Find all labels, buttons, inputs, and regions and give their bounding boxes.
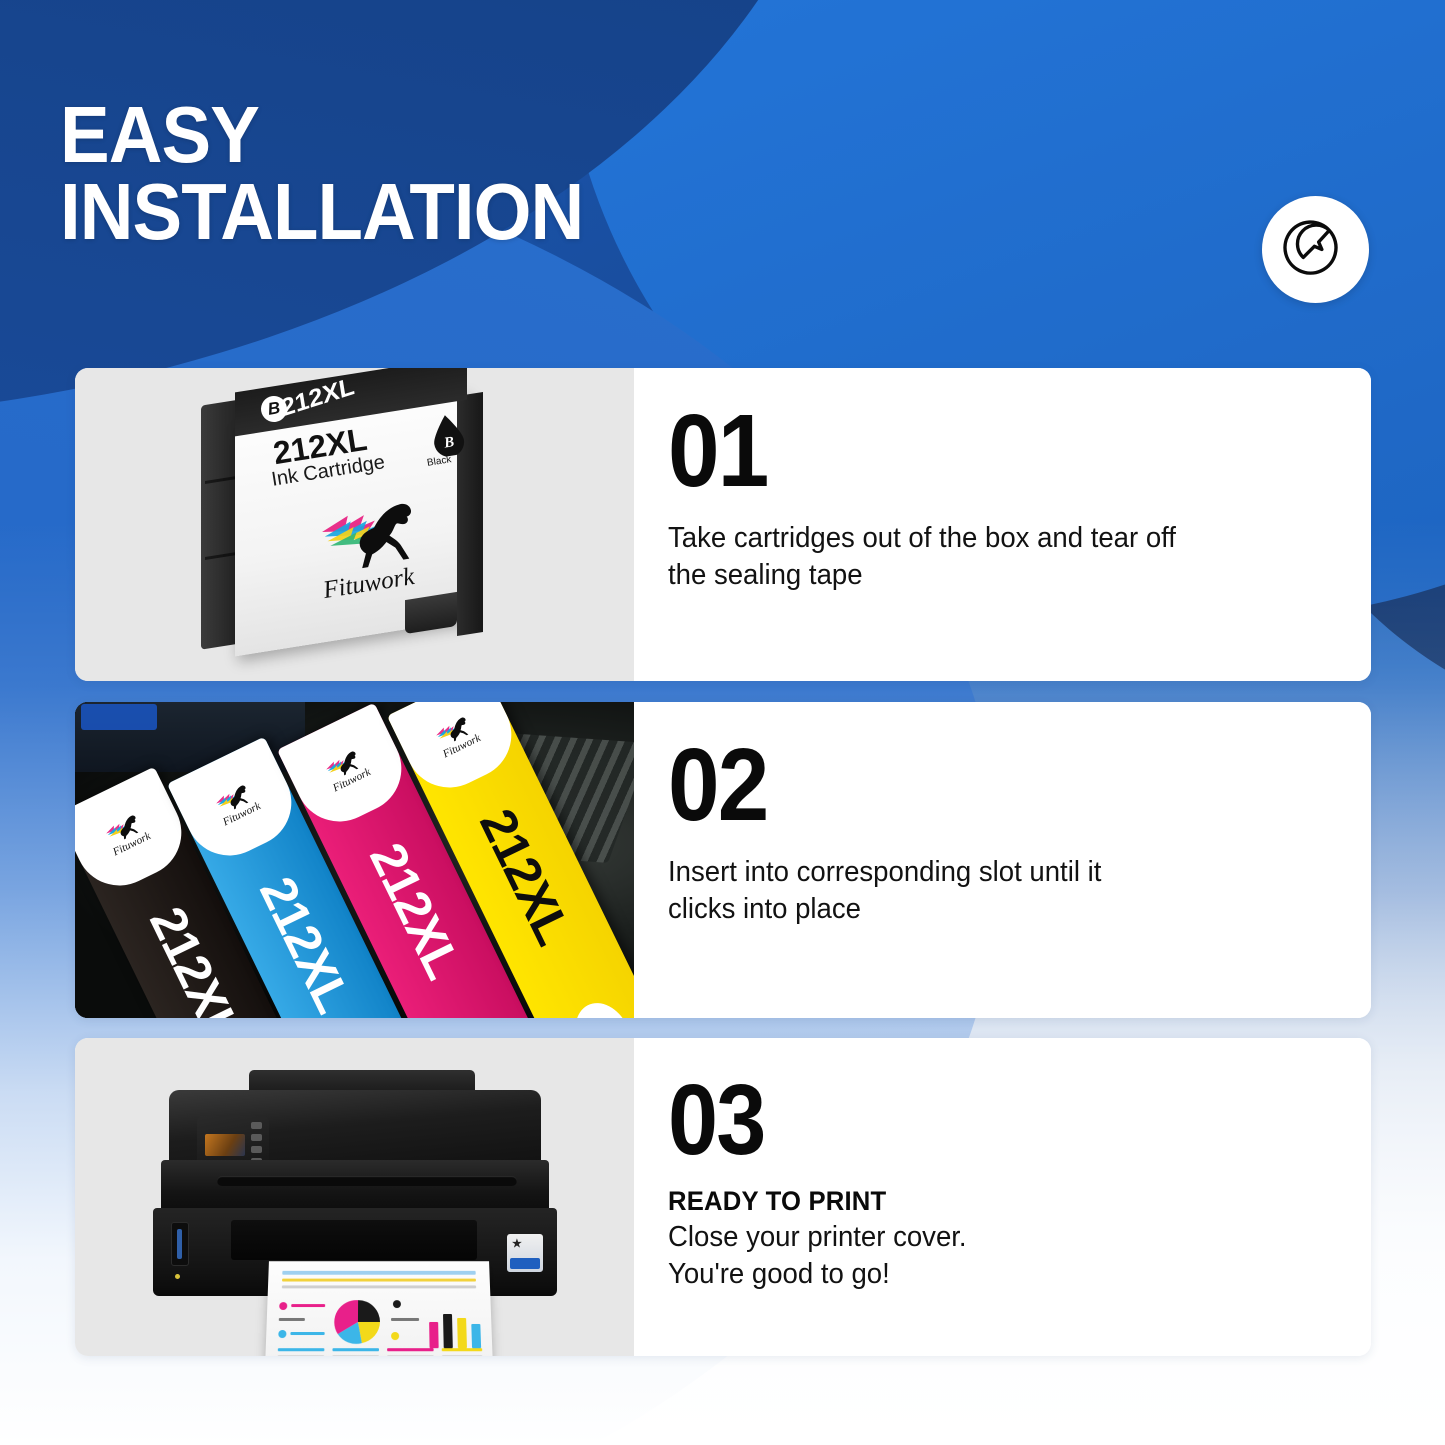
printer-blue-accent bbox=[81, 704, 157, 730]
cartridge-top-model: 212XL bbox=[279, 372, 356, 423]
printer-lid-seam bbox=[217, 1176, 517, 1186]
step-02-text: 02 Insert into corresponding slot until … bbox=[634, 702, 1371, 1018]
step-card-02[interactable]: Fituwork 212XL Fituwork 212XL bbox=[75, 702, 1371, 1018]
page-title: EASY INSTALLATION bbox=[60, 97, 583, 251]
step-01-image: 212XL B 212XL Ink Cartridge B Black Fitu… bbox=[75, 368, 634, 681]
step-card-03[interactable]: ★ bbox=[75, 1038, 1371, 1356]
cartridge-nozzle bbox=[405, 592, 457, 634]
step-number-03: 03 bbox=[668, 1076, 1265, 1164]
printer-scanner-body bbox=[161, 1160, 549, 1214]
printer-button bbox=[251, 1134, 262, 1141]
wrench-icon bbox=[1282, 216, 1350, 284]
printer-illustration: ★ bbox=[145, 1068, 565, 1318]
printer-lid bbox=[169, 1090, 541, 1168]
step-number-02: 02 bbox=[668, 740, 1265, 831]
ink-cartridge-black: 212XL B 212XL Ink Cartridge B Black Fitu… bbox=[193, 380, 523, 670]
step-01-text: 01 Take cartridges out of the box and te… bbox=[634, 368, 1371, 681]
step-card-01[interactable]: 212XL B 212XL Ink Cartridge B Black Fitu… bbox=[75, 368, 1371, 681]
step-heading-03: READY TO PRINT bbox=[668, 1186, 1298, 1217]
printer-badge-sticker: ★ bbox=[507, 1234, 543, 1272]
printer-button bbox=[251, 1122, 262, 1129]
step-description-03: Close your printer cover. You're good to… bbox=[668, 1219, 1298, 1293]
cartridge-color-badge-y: Y bbox=[565, 994, 634, 1018]
printer-button bbox=[251, 1146, 262, 1153]
step-03-text: 03 READY TO PRINT Close your printer cov… bbox=[634, 1038, 1371, 1356]
printer-badge-mark: ★ bbox=[512, 1237, 522, 1250]
step-description-01: Take cartridges out of the box and tear … bbox=[668, 520, 1298, 594]
step-description-02: Insert into corresponding slot until it … bbox=[668, 854, 1298, 928]
printer-status-led bbox=[175, 1274, 180, 1279]
pie-chart-graphic bbox=[330, 1298, 385, 1346]
printer-carriage-scene: Fituwork 212XL Fituwork 212XL bbox=[75, 702, 634, 1018]
printer-screen bbox=[205, 1134, 245, 1156]
wrench-badge bbox=[1262, 196, 1369, 303]
printer-memory-card-slot bbox=[171, 1222, 189, 1266]
printed-test-page bbox=[265, 1261, 493, 1356]
printer-badge-bar bbox=[510, 1258, 540, 1269]
printer-output-tray bbox=[231, 1220, 477, 1260]
step-number-01: 01 bbox=[668, 406, 1265, 497]
ink-drop-icon: B bbox=[428, 412, 468, 459]
step-03-image: ★ bbox=[75, 1038, 634, 1356]
step-02-image: Fituwork 212XL Fituwork 212XL bbox=[75, 702, 634, 1018]
